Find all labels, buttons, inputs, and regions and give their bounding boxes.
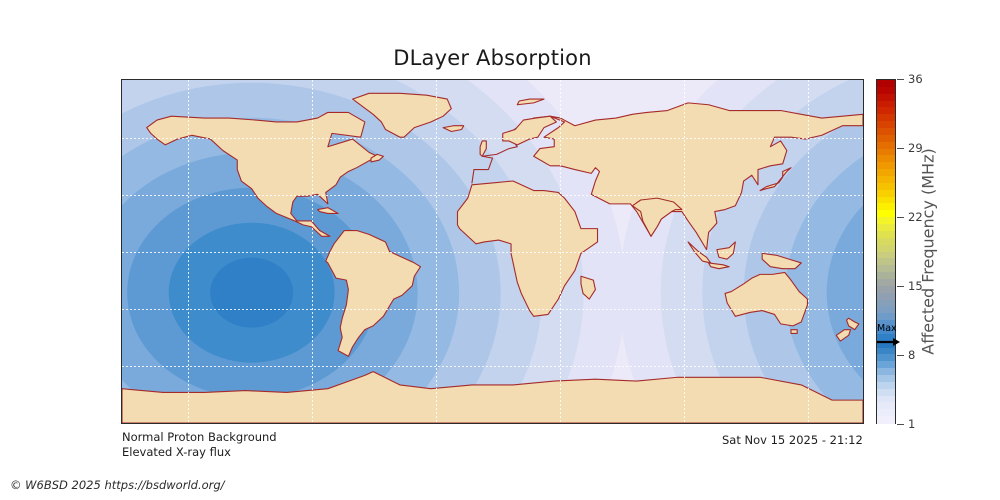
colorbar-tick — [897, 217, 904, 218]
colorbar-gradient — [876, 79, 896, 424]
absorption-band — [210, 258, 293, 328]
colorbar-tick — [897, 286, 904, 287]
xray-status-text: Elevated X-ray flux — [122, 445, 231, 459]
colorbar-tick — [897, 424, 904, 425]
colorbar-tick — [897, 79, 904, 80]
max-label: Max — [877, 324, 897, 334]
world-map[interactable] — [121, 79, 864, 424]
dlayer-absorption-figure: DLayer Absorption — [0, 0, 1000, 500]
map-layers — [122, 80, 863, 423]
colorbar-tick-label: 8 — [908, 348, 915, 362]
colorbar-segment — [877, 416, 895, 424]
footer-credit: © W6BSD 2025 https://bsdworld.org/ — [10, 478, 225, 492]
timestamp-text: Sat Nov 15 2025 - 21:12 — [722, 433, 863, 447]
colorbar-tick — [897, 355, 904, 356]
page-title: DLayer Absorption — [0, 46, 985, 70]
colorbar-axis-label-text: Affected Frequency (MHz) — [919, 148, 938, 354]
proton-status-text: Normal Proton Background — [122, 430, 277, 444]
right-arrow-icon — [877, 337, 901, 347]
landmass-tasmania — [791, 330, 797, 334]
map-canvas — [122, 80, 863, 423]
colorbar-axis-label: Affected Frequency (MHz) — [916, 79, 940, 424]
colorbar-tick-label: 1 — [908, 417, 915, 431]
colorbar[interactable]: 1815222936 Max — [876, 79, 896, 424]
colorbar-tick — [897, 148, 904, 149]
